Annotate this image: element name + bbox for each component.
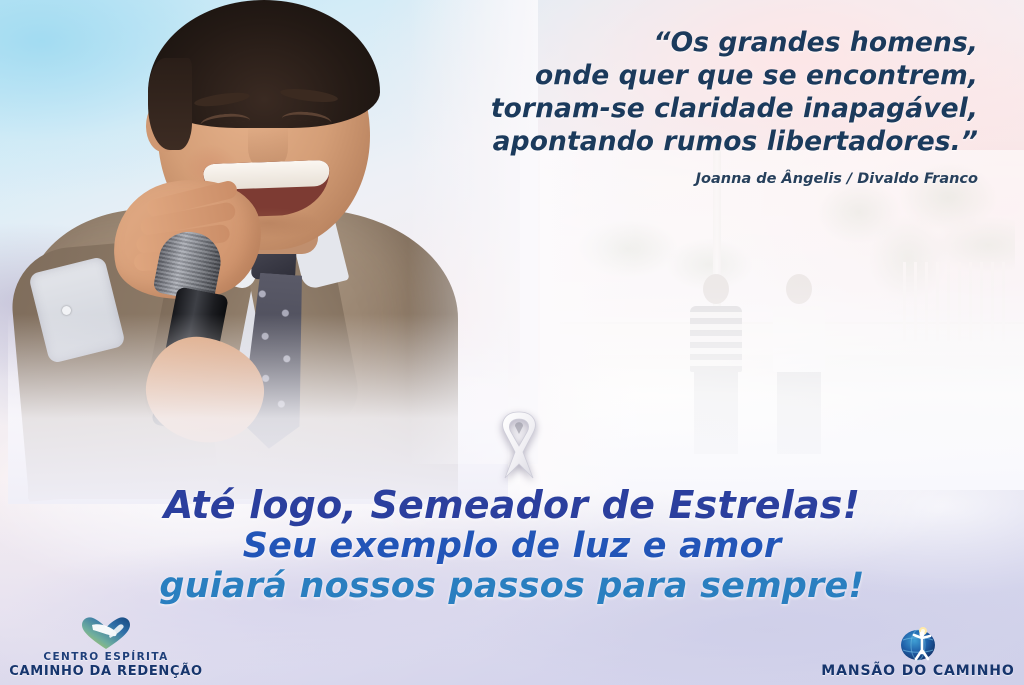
quote-line-1: “Os grandes homens, [418,26,978,59]
portrait-hair-side [148,58,192,150]
logo-mansao-do-caminho: MANSÃO DO CAMINHO [818,626,1018,679]
quote-line-3: tornam-se claridade inapagável, [418,92,978,125]
logo-centro-espirita-caminho-da-redencao: CENTRO ESPÍRITA CAMINHO DA REDENÇÃO [6,615,206,679]
logo-left-line-2: CAMINHO DA REDENÇÃO [6,664,206,679]
headline-line-2: Seu exemplo de luz e amor [0,526,1024,566]
portrait-divaldo-franco [8,0,488,494]
headline-line-3: guiará nossos passos para sempre! [0,566,1024,606]
headline-block: Até logo, Semeador de Estrelas! Seu exem… [0,484,1024,606]
quote-line-2: onde quer que se encontrem, [418,59,978,92]
globe-figure-icon [818,626,1018,662]
quote-block: “Os grandes homens, onde quer que se enc… [418,26,978,187]
memorial-tribute-poster: “Os grandes homens, onde quer que se enc… [0,0,1024,685]
quote-attribution: Joanna de Ângelis / Divaldo Franco [418,171,978,187]
headline-line-1: Até logo, Semeador de Estrelas! [0,484,1024,526]
heart-hands-icon [6,615,206,651]
logo-right-line-2: MANSÃO DO CAMINHO [818,663,1018,679]
white-mourning-ribbon-icon [489,406,549,482]
portrait-cuff-button [62,306,71,315]
quote-line-4: apontando rumos libertadores.” [418,125,978,158]
logo-left-line-1: CENTRO ESPÍRITA [6,651,206,663]
